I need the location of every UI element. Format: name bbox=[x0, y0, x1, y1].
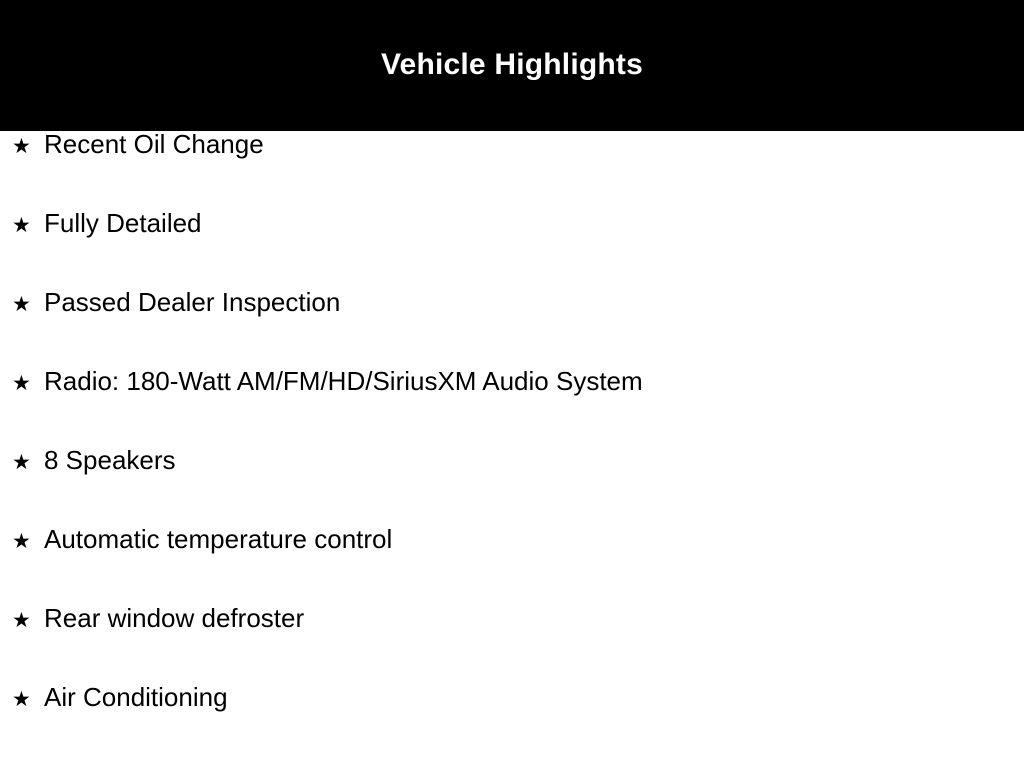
list-item: ★ Automatic temperature control bbox=[0, 526, 1024, 605]
highlight-label: 8 Speakers bbox=[44, 447, 176, 473]
star-icon: ★ bbox=[12, 452, 44, 473]
highlight-label: Automatic temperature control bbox=[44, 526, 392, 552]
vehicle-highlights-list: ★ Recent Oil Change ★ Fully Detailed ★ P… bbox=[0, 131, 1024, 763]
highlight-label: Air Conditioning bbox=[44, 684, 228, 710]
list-item: ★ Passed Dealer Inspection bbox=[0, 289, 1024, 368]
star-icon: ★ bbox=[12, 215, 44, 236]
star-icon: ★ bbox=[12, 531, 44, 552]
highlight-label: Radio: 180-Watt AM/FM/HD/SiriusXM Audio … bbox=[44, 368, 643, 394]
highlight-label: Passed Dealer Inspection bbox=[44, 289, 340, 315]
page-header-band: Vehicle Highlights bbox=[0, 0, 1024, 131]
highlight-label: Fully Detailed bbox=[44, 210, 202, 236]
list-item: ★ Rear window defroster bbox=[0, 605, 1024, 684]
list-item: ★ 8 Speakers bbox=[0, 447, 1024, 526]
list-item: ★ Recent Oil Change bbox=[0, 131, 1024, 210]
star-icon: ★ bbox=[12, 294, 44, 315]
star-icon: ★ bbox=[12, 136, 44, 157]
list-item: ★ Radio: 180-Watt AM/FM/HD/SiriusXM Audi… bbox=[0, 368, 1024, 447]
vehicle-highlights-page: Vehicle Highlights ★ Recent Oil Change ★… bbox=[0, 0, 1024, 768]
star-icon: ★ bbox=[12, 373, 44, 394]
list-item: ★ Air Conditioning bbox=[0, 684, 1024, 763]
highlight-label: Recent Oil Change bbox=[44, 131, 264, 157]
list-item: ★ Fully Detailed bbox=[0, 210, 1024, 289]
star-icon: ★ bbox=[12, 689, 44, 710]
star-icon: ★ bbox=[12, 610, 44, 631]
page-title: Vehicle Highlights bbox=[381, 50, 643, 80]
highlight-label: Rear window defroster bbox=[44, 605, 304, 631]
